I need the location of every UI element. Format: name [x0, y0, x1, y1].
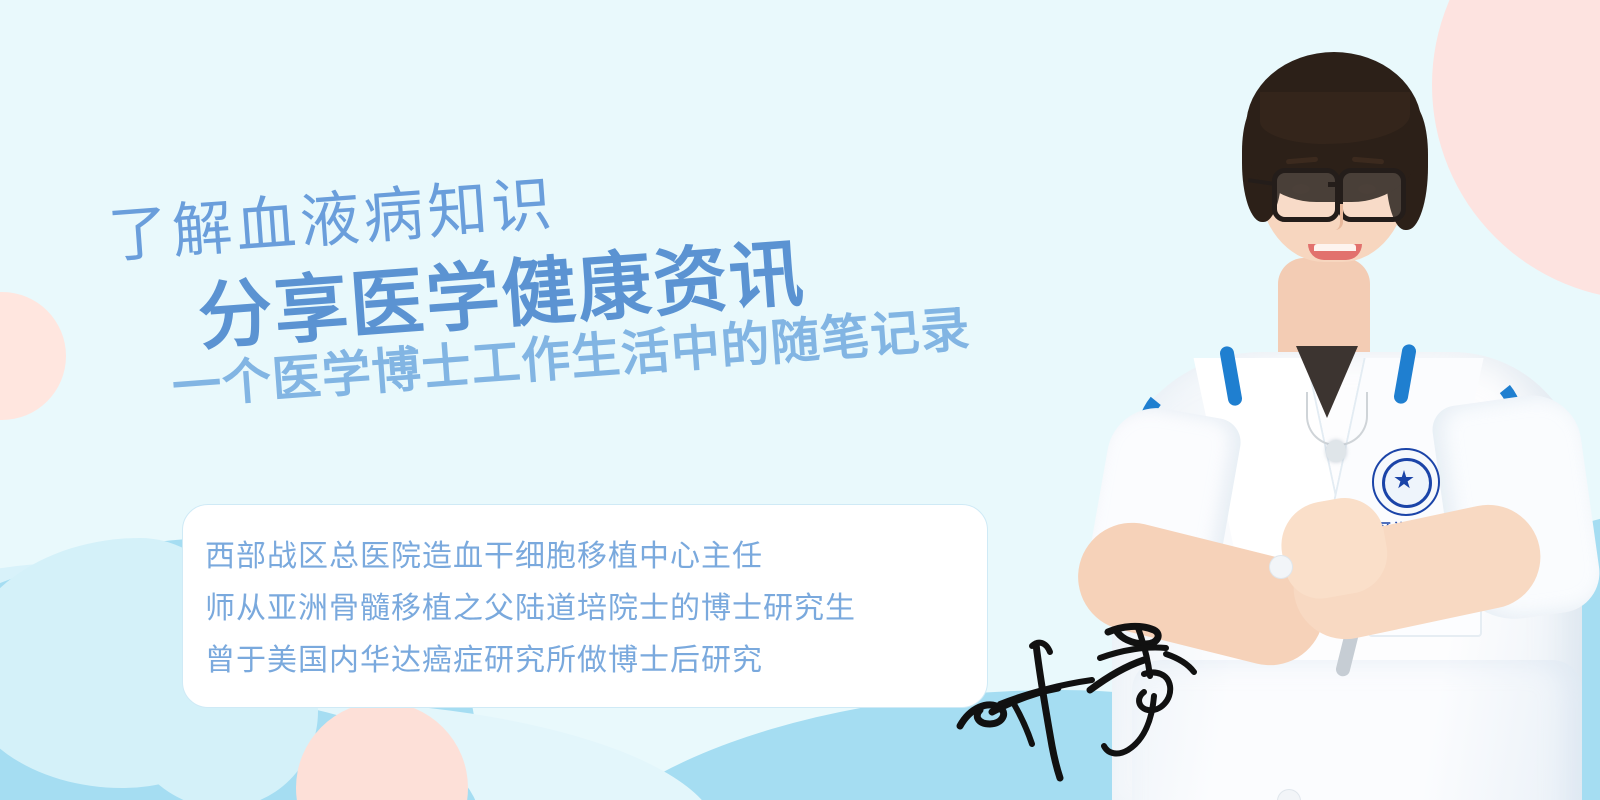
necklace-pendant: [1326, 440, 1346, 462]
signature-mark: [940, 600, 1230, 800]
coat-button-upper: [1270, 556, 1292, 578]
credentials-card: 西部战区总医院造血干细胞移植中心主任 师从亚洲骨髓移植之父陆道培院士的博士研究生…: [182, 504, 988, 708]
decor-pink-circle-bottom: [296, 702, 468, 800]
signature-icon: [940, 600, 1230, 800]
teeth: [1314, 244, 1356, 251]
decor-mint-blob-bottom: [0, 700, 720, 800]
glasses-bridge: [1328, 182, 1342, 187]
nose: [1326, 204, 1343, 230]
credential-line: 曾于美国内华达癌症研究所做博士后研究: [205, 635, 987, 687]
hero-banner: 了解血液病知识 分享医学健康资讯 一个医学博士工作生活中的随笔记录 西部战区总医…: [0, 0, 1600, 800]
credential-line: 师从亚洲骨髓移植之父陆道培院士的博士研究生: [205, 583, 987, 635]
credential-line: 西部战区总医院造血干细胞移植中心主任: [205, 531, 987, 583]
headline-block: 了解血液病知识 分享医学健康资讯 一个医学博士工作生活中的随笔记录: [0, 0, 1180, 440]
glasses-lens-right: [1338, 168, 1406, 222]
